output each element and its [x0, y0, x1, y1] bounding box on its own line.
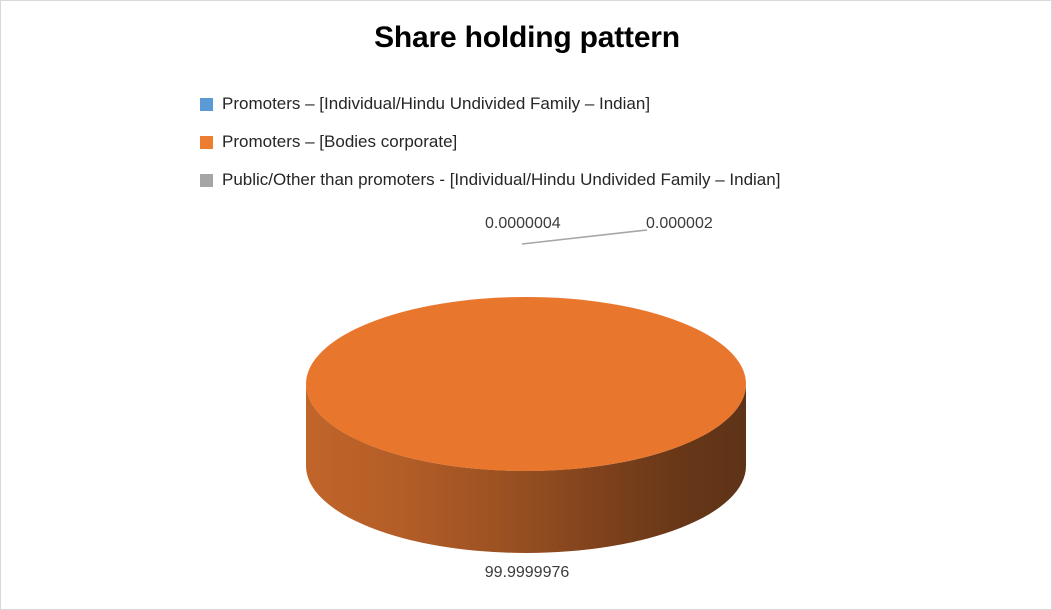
plot-area: 0.0000004 0.000002 99.9999976	[1, 1, 1052, 610]
data-label-slice-bodies-corporate: 99.9999976	[1, 564, 1052, 582]
pie-chart-graphic	[1, 1, 1052, 610]
data-label-slice-public-other: 0.000002	[646, 215, 713, 233]
chart-container: Share holding pattern Promoters – [Indiv…	[0, 0, 1052, 610]
data-label-slice-promoters-individual: 0.0000004	[485, 215, 561, 233]
pie-slice-top-bodies-corporate[interactable]	[306, 297, 746, 471]
